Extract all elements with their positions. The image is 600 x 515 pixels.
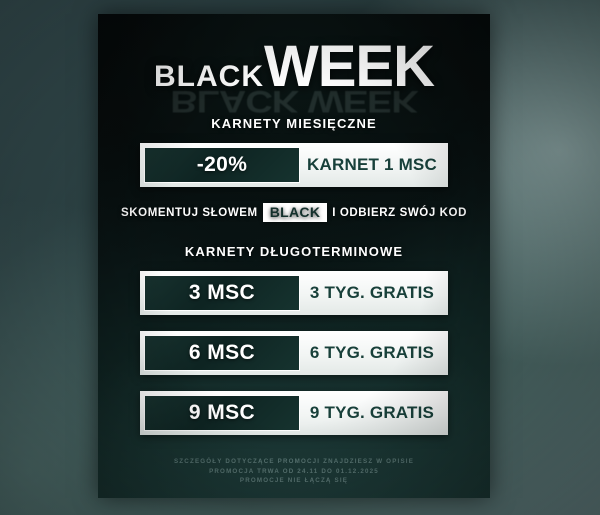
cta-comment-line: SKOMENTUJ SŁOWEM BLACK I ODBIERZ SWÓJ KO…	[98, 203, 490, 222]
fineprint-line-2: PROMOCJA TRWA OD 24.11 DO 01.12.2025	[98, 467, 490, 477]
section-heading-monthly: KARNETY MIESIĘCZNE	[98, 116, 490, 131]
offer-left-box: -20%	[144, 147, 300, 183]
offer-right-label: 3 TYG. GRATIS	[310, 283, 434, 303]
offer-left-label: 6 MSC	[189, 341, 255, 365]
offer-left-box: 9 MSC	[144, 395, 300, 431]
offer-row-3msc: 3 MSC 3 TYG. GRATIS	[140, 271, 448, 315]
title-word-black: BLACK	[154, 60, 264, 93]
offer-row-discount: -20% KARNET 1 MSC	[140, 143, 448, 187]
poster-title: BLACK WEEK BLACKWEEK	[98, 38, 490, 96]
offer-right-label: 6 TYG. GRATIS	[310, 343, 434, 363]
offer-right-box: 9 TYG. GRATIS	[300, 395, 444, 431]
cta-text-before: SKOMENTUJ SŁOWEM	[121, 207, 258, 219]
title-line: BLACKWEEK	[98, 38, 490, 96]
promo-poster: BLACK WEEK BLACKWEEK KARNETY MIESIĘCZNE …	[98, 14, 490, 498]
fineprint-line-1: SZCZEGÓŁY DOTYCZĄCE PROMOCJI ZNAJDZIESZ …	[98, 457, 490, 467]
section-heading-longterm: KARNETY DŁUGOTERMINOWE	[98, 244, 490, 259]
cta-text-after: I ODBIERZ SWÓJ KOD	[332, 207, 467, 219]
offer-right-label: 9 TYG. GRATIS	[310, 403, 434, 423]
title-word-week: WEEK	[264, 34, 434, 99]
fineprint-line-3: PROMOCJE NIE ŁĄCZĄ SIĘ	[98, 476, 490, 486]
offer-right-box: 3 TYG. GRATIS	[300, 275, 444, 311]
offer-right-box: KARNET 1 MSC	[300, 147, 444, 183]
image-backdrop: BLACK WEEK BLACKWEEK KARNETY MIESIĘCZNE …	[0, 0, 600, 515]
offer-left-box: 6 MSC	[144, 335, 300, 371]
offer-left-label: 9 MSC	[189, 401, 255, 425]
offer-left-box: 3 MSC	[144, 275, 300, 311]
offer-row-6msc: 6 MSC 6 TYG. GRATIS	[140, 331, 448, 375]
offer-left-label: 3 MSC	[189, 281, 255, 305]
cta-keyword-badge: BLACK	[263, 203, 328, 222]
offer-row-9msc: 9 MSC 9 TYG. GRATIS	[140, 391, 448, 435]
offer-right-label: KARNET 1 MSC	[307, 155, 437, 175]
offer-right-box: 6 TYG. GRATIS	[300, 335, 444, 371]
fineprint-block: SZCZEGÓŁY DOTYCZĄCE PROMOCJI ZNAJDZIESZ …	[98, 457, 490, 486]
offer-left-label: -20%	[197, 153, 248, 177]
